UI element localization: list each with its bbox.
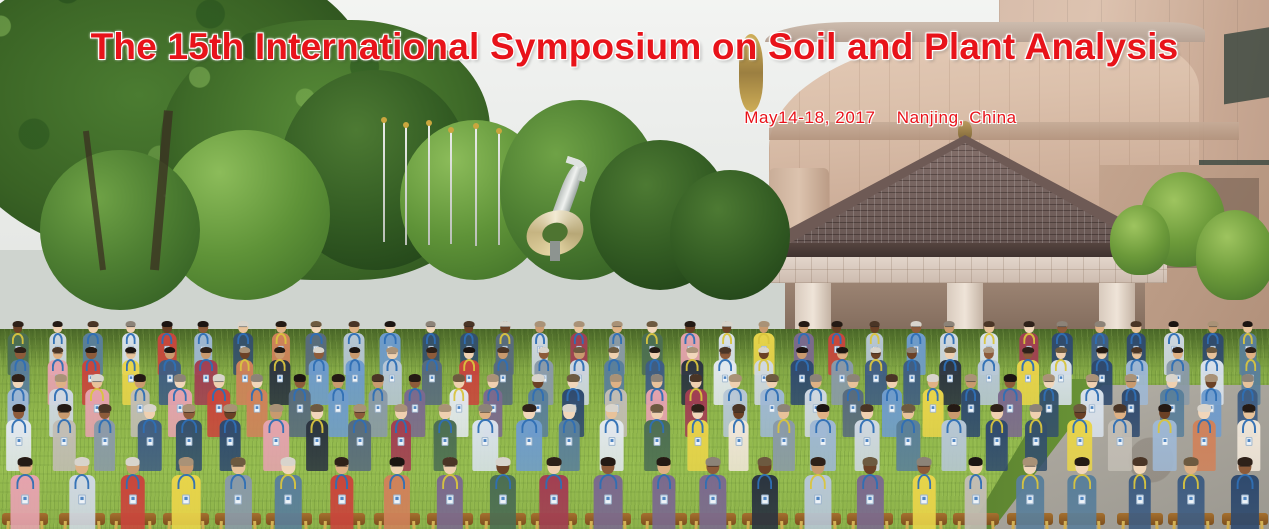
lanyard <box>1086 388 1100 401</box>
lanyard <box>1242 333 1252 344</box>
attendee-hair <box>847 374 859 381</box>
attendee-hair <box>409 374 421 381</box>
name-badge <box>1076 437 1083 446</box>
attendee-hair <box>311 404 324 412</box>
name-badge <box>660 494 668 504</box>
lanyard <box>886 388 898 401</box>
name-badge <box>967 404 973 412</box>
lanyard <box>1022 474 1039 489</box>
attendee-hair <box>758 321 769 327</box>
eyeglasses <box>214 382 223 385</box>
lanyard <box>1242 419 1256 433</box>
eyeglasses <box>312 327 320 329</box>
attendee-hair <box>487 374 499 381</box>
name-badge <box>314 437 321 446</box>
eyeglasses <box>60 412 70 415</box>
lanyard <box>685 333 696 344</box>
lanyard <box>349 359 360 371</box>
attendee <box>857 455 883 529</box>
lanyard <box>86 359 97 371</box>
name-badge <box>950 437 957 446</box>
name-badge <box>986 374 992 382</box>
lanyard <box>810 474 826 489</box>
lanyard <box>387 359 398 371</box>
lanyard <box>1055 359 1067 371</box>
name-badge <box>1025 374 1031 382</box>
attendee-hair <box>1131 321 1142 327</box>
lanyard <box>87 333 99 344</box>
lanyard <box>310 333 323 344</box>
lanyard <box>162 333 173 344</box>
lanyard <box>239 359 250 371</box>
lanyard <box>798 333 810 344</box>
attendee-hair <box>75 457 90 466</box>
lanyard <box>293 388 307 401</box>
lanyard <box>348 333 361 344</box>
attendee-hair <box>947 404 960 412</box>
attendee-hair <box>174 374 186 381</box>
lanyard <box>758 359 770 371</box>
attendee <box>329 373 348 437</box>
name-badge <box>993 437 1000 446</box>
lanyard <box>1157 419 1172 433</box>
attendee-hair <box>990 404 1003 412</box>
name-badge <box>1246 437 1253 446</box>
lanyard <box>1029 419 1042 433</box>
attendee-hair <box>1241 374 1253 381</box>
eyeglasses <box>1132 353 1141 356</box>
attendee-hair <box>650 374 662 381</box>
name-badge <box>456 404 462 412</box>
attendee <box>594 455 623 529</box>
eyeglasses <box>100 412 110 415</box>
lanyard <box>250 388 263 401</box>
name-badge <box>397 437 404 446</box>
lanyard <box>946 419 961 433</box>
attendee <box>308 345 329 405</box>
lanyard <box>52 333 62 344</box>
eyeglasses <box>20 466 31 469</box>
attendee-hair <box>758 347 770 354</box>
lanyard <box>1171 359 1185 371</box>
lanyard <box>134 388 145 401</box>
attendee <box>941 402 966 471</box>
attendee-hair <box>162 321 173 327</box>
attendee <box>964 455 987 529</box>
attendee-hair <box>757 457 772 466</box>
name-badge <box>735 437 742 446</box>
name-badge <box>273 437 280 446</box>
eyeglasses <box>652 412 662 415</box>
lanyard <box>869 359 882 371</box>
name-badge <box>129 494 137 504</box>
attendee-hair <box>574 347 586 354</box>
eyeglasses <box>838 353 847 356</box>
attendee-hair <box>1184 457 1199 466</box>
attendee-hair <box>796 347 808 354</box>
eyeglasses <box>1244 412 1254 415</box>
name-badge <box>1116 437 1123 446</box>
attendee-hair <box>1073 404 1086 412</box>
name-badge <box>920 494 928 504</box>
attendee <box>539 455 568 529</box>
lanyard <box>757 333 770 344</box>
attendee-hair <box>251 374 263 381</box>
attendee-hair <box>567 374 579 381</box>
eyeglasses <box>613 327 621 329</box>
attendee-hair <box>134 374 146 381</box>
name-badge <box>526 437 533 446</box>
attendee-hair <box>479 404 492 412</box>
lanyard <box>142 419 157 433</box>
chair-leg <box>850 521 855 529</box>
name-badge <box>61 437 68 446</box>
attendee <box>805 455 832 529</box>
attendee-hair <box>497 347 509 354</box>
eyeglasses <box>1025 327 1033 329</box>
name-badge <box>412 404 418 412</box>
lanyard <box>1023 333 1035 344</box>
attendee-hair <box>353 404 366 412</box>
lanyard <box>657 474 671 489</box>
name-badge <box>442 437 449 446</box>
attendee-hair <box>200 347 212 354</box>
attendee-hair <box>1055 347 1067 354</box>
lanyard <box>54 388 68 401</box>
lanyard <box>969 474 983 489</box>
eyeglasses <box>1115 412 1125 415</box>
attendee-hair <box>647 321 658 327</box>
name-badge <box>235 494 243 504</box>
name-badge <box>1161 437 1168 446</box>
name-badge <box>888 404 894 412</box>
lanyard <box>574 333 584 344</box>
attendee-hair <box>563 404 576 412</box>
lanyard <box>965 388 977 401</box>
attendee <box>752 455 778 529</box>
attendee-hair <box>52 321 63 327</box>
name-badge <box>780 437 787 446</box>
attendee <box>490 455 516 529</box>
chair-leg <box>62 521 67 529</box>
attendee-hair <box>438 404 451 412</box>
eyeglasses <box>1024 353 1033 356</box>
attendee-hair <box>906 347 918 354</box>
attendee-hair <box>15 347 27 354</box>
chair-leg <box>6 521 11 529</box>
attendee-hair <box>313 347 325 354</box>
eyeglasses <box>1126 382 1135 385</box>
eyeglasses <box>480 412 490 415</box>
attendee-hair <box>349 321 360 327</box>
name-badge <box>146 437 153 446</box>
name-badge <box>1026 494 1034 504</box>
lanyard <box>689 388 702 401</box>
lanyard <box>944 333 955 344</box>
name-badge <box>1032 437 1039 446</box>
attendee <box>1016 455 1044 529</box>
chair-leg <box>377 521 382 529</box>
lanyard <box>352 419 366 433</box>
name-badge <box>947 374 953 382</box>
lanyard <box>600 474 617 489</box>
lanyard <box>686 359 699 371</box>
name-badge <box>864 437 871 446</box>
lanyard <box>795 359 809 371</box>
lanyard <box>384 333 397 344</box>
attendee <box>172 455 201 529</box>
attendee <box>1128 455 1150 529</box>
eyeglasses <box>388 353 397 356</box>
name-badge <box>316 374 322 382</box>
lanyard <box>567 388 580 401</box>
lanyard <box>487 388 499 401</box>
lanyard <box>426 333 436 344</box>
lanyard <box>1168 333 1180 344</box>
chair-leg <box>588 521 593 529</box>
attendee-hair <box>281 457 296 466</box>
name-badge <box>285 494 293 504</box>
lanyard <box>212 388 226 401</box>
attendee-hair <box>239 347 251 354</box>
lanyard <box>173 388 187 401</box>
attendee-hair <box>453 374 465 381</box>
eyeglasses <box>1025 466 1036 469</box>
attendee-hair <box>817 404 830 412</box>
lanyard <box>765 388 779 401</box>
lanyard <box>722 333 732 344</box>
lanyard <box>719 359 733 371</box>
attendee-hair <box>534 321 545 327</box>
attendee <box>728 402 749 471</box>
name-badge <box>905 437 912 446</box>
attendee-hair <box>902 404 915 412</box>
lanyard <box>395 419 407 433</box>
attendee-hair <box>605 404 618 412</box>
name-badge <box>694 437 701 446</box>
attendee-hair <box>729 374 741 381</box>
lanyard <box>98 419 111 433</box>
lanyard <box>984 333 995 344</box>
attendee-hair <box>573 321 584 327</box>
lanyard <box>12 333 24 344</box>
name-badge <box>654 437 661 446</box>
chair-leg <box>1062 521 1067 529</box>
attendee-hair <box>686 347 698 354</box>
attendee-hair <box>85 347 97 354</box>
eyeglasses <box>693 412 703 415</box>
lanyard <box>478 419 493 433</box>
eyeglasses <box>768 382 777 385</box>
name-badge <box>22 494 30 504</box>
chair-leg <box>904 521 909 529</box>
attendee <box>1067 455 1096 529</box>
name-badge <box>78 494 86 504</box>
eyeglasses <box>871 327 879 329</box>
name-badge <box>608 437 615 446</box>
attendee-hair <box>927 374 939 381</box>
lanyard <box>777 419 790 433</box>
lanyard <box>609 388 622 401</box>
name-badge <box>761 494 769 504</box>
lanyard <box>612 333 622 344</box>
lanyard <box>1021 359 1034 371</box>
attendee-hair <box>224 404 237 412</box>
lanyard <box>163 359 176 371</box>
lanyard <box>1237 474 1254 489</box>
attendee <box>69 455 94 529</box>
lanyard <box>545 474 563 489</box>
name-badge <box>101 437 108 446</box>
lanyard <box>911 333 922 344</box>
eyeglasses <box>336 466 347 469</box>
eyeglasses <box>1075 412 1085 415</box>
attendee-hair <box>164 347 176 354</box>
name-badge <box>277 374 283 382</box>
lanyard <box>425 359 437 371</box>
lanyard <box>1096 359 1109 371</box>
attendee-hair <box>98 404 111 412</box>
eyeglasses <box>919 466 930 469</box>
attendee-hair <box>463 347 475 354</box>
eyeglasses <box>1006 382 1015 385</box>
attendee-hair <box>885 374 897 381</box>
name-badge <box>1058 374 1064 382</box>
conference-group-photo: The 15th International Symposium on Soil… <box>0 0 1269 529</box>
eyeglasses <box>427 327 435 329</box>
name-badge <box>227 437 234 446</box>
lanyard <box>199 359 213 371</box>
name-badge <box>338 494 346 504</box>
attendee-hair <box>984 321 995 327</box>
attendee-hair <box>811 457 826 466</box>
eyeglasses <box>126 353 135 356</box>
eyeglasses <box>1044 382 1053 385</box>
attendee-hair <box>495 457 510 466</box>
eyeglasses <box>871 353 880 356</box>
lanyard <box>574 359 585 371</box>
lanyard <box>499 333 510 344</box>
eyeglasses <box>734 412 744 415</box>
attendee <box>330 455 353 529</box>
attendee-hair <box>426 347 438 354</box>
lanyard <box>409 388 422 401</box>
lanyard <box>90 388 104 401</box>
lanyard <box>691 419 704 433</box>
eyeglasses <box>1088 382 1097 385</box>
attendee-hair <box>1094 321 1105 327</box>
attendee-hair <box>983 347 995 354</box>
attendee <box>275 455 301 529</box>
attendee-hair <box>12 321 23 327</box>
name-badge <box>352 374 358 382</box>
attendee-hair <box>270 404 283 412</box>
attendee <box>903 345 920 405</box>
eyeglasses <box>1098 353 1107 356</box>
eyeglasses <box>1240 466 1251 469</box>
attendee-hair <box>1172 347 1184 354</box>
name-badge <box>15 437 22 446</box>
name-badge <box>389 374 395 382</box>
name-badge <box>335 404 341 412</box>
attendee-hair <box>1029 404 1042 412</box>
eyeglasses <box>89 327 97 329</box>
lanyard <box>125 474 140 489</box>
attendee-hair <box>650 404 663 412</box>
lanyard <box>815 419 831 433</box>
attendee-hair <box>55 374 67 381</box>
name-badge <box>820 437 827 446</box>
eyeglasses <box>334 382 343 385</box>
lanyard <box>535 333 545 344</box>
eyeglasses <box>54 353 63 356</box>
lanyard <box>860 419 875 433</box>
lanyard <box>335 474 349 489</box>
eyeglasses <box>14 382 23 385</box>
name-badge <box>499 494 507 504</box>
attendee-hair <box>1242 404 1255 412</box>
attendee <box>437 455 463 529</box>
attendee <box>1231 455 1259 529</box>
chair-leg <box>218 521 223 529</box>
attendee-hair <box>1245 347 1257 354</box>
attendee <box>652 455 675 529</box>
lanyard <box>333 388 345 401</box>
attendee-hair <box>385 321 396 327</box>
lanyard <box>728 388 742 401</box>
attendee-hair <box>1166 374 1178 381</box>
lanyard <box>1095 333 1105 344</box>
eyeglasses <box>199 327 207 329</box>
attendee-hair <box>182 404 195 412</box>
attendee <box>1152 402 1177 471</box>
attendee-hair <box>1158 404 1171 412</box>
attendee-hair <box>1206 347 1218 354</box>
attendee <box>923 373 944 437</box>
eyeglasses <box>93 382 102 385</box>
attendee <box>1177 455 1204 529</box>
lanyard <box>732 419 745 433</box>
attendee-hair <box>685 321 696 327</box>
attendee-hair <box>1205 374 1217 381</box>
attendee-hair <box>523 404 536 412</box>
eyeglasses <box>465 327 473 329</box>
lanyard <box>463 359 475 371</box>
name-badge <box>428 374 434 382</box>
name-badge <box>909 374 915 382</box>
attendee-hair <box>968 457 983 466</box>
eyeglasses <box>225 412 235 415</box>
attendee <box>269 345 290 405</box>
attendee-hair <box>143 404 156 412</box>
chair-leg <box>1010 521 1015 529</box>
attendee <box>384 455 410 529</box>
lanyard <box>650 388 663 401</box>
lanyard <box>464 333 475 344</box>
attendee <box>978 345 1001 405</box>
name-badge <box>930 404 936 412</box>
lanyard <box>1125 388 1136 401</box>
attendee-hair <box>394 404 407 412</box>
name-badge <box>866 494 874 504</box>
attendee-hair <box>691 404 704 412</box>
attendee-hair <box>179 457 194 466</box>
name-badge <box>253 404 259 412</box>
lanyard <box>237 333 249 344</box>
attendee-hair <box>1168 321 1179 327</box>
attendee <box>345 345 364 405</box>
attendee-hair <box>1242 321 1253 327</box>
